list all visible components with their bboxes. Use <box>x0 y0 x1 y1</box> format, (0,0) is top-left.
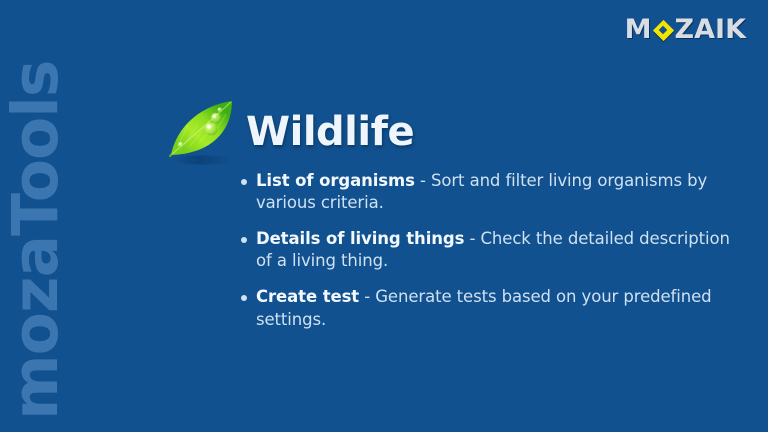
list-item-dash: - <box>464 229 480 248</box>
list-item-title: Details of living things <box>256 229 464 248</box>
logo-text-zaik: ZAIK <box>675 16 746 43</box>
logo-text-m: M <box>625 16 652 43</box>
bullet-dot-icon <box>241 295 247 301</box>
bullet-dot-icon <box>241 179 247 185</box>
watermark: mozaTools <box>0 0 70 432</box>
leaf-icon <box>160 96 242 168</box>
watermark-label: mozaTools <box>4 61 67 432</box>
list-item-text: Details of living things - Check the det… <box>256 228 741 272</box>
list-item-dash: - <box>359 287 375 306</box>
list-item-title: Create test <box>256 287 359 306</box>
slide-canvas: mozaTools M ZAIK <box>0 0 768 432</box>
page-title: Wildlife <box>246 112 414 152</box>
diamond-icon <box>653 20 674 41</box>
bullet-dot-icon <box>241 237 247 243</box>
list-item: Details of living things - Check the det… <box>241 228 741 272</box>
list-item-text: Create test - Generate tests based on yo… <box>256 286 741 330</box>
list-item: Create test - Generate tests based on yo… <box>241 286 741 330</box>
feature-list: List of organisms - Sort and filter livi… <box>241 170 741 345</box>
list-item-title: List of organisms <box>256 171 415 190</box>
mozaik-logo: M ZAIK <box>625 14 746 44</box>
list-item: List of organisms - Sort and filter livi… <box>241 170 741 214</box>
header-row: Wildlife <box>160 96 414 168</box>
list-item-dash: - <box>415 171 431 190</box>
list-item-text: List of organisms - Sort and filter livi… <box>256 170 741 214</box>
